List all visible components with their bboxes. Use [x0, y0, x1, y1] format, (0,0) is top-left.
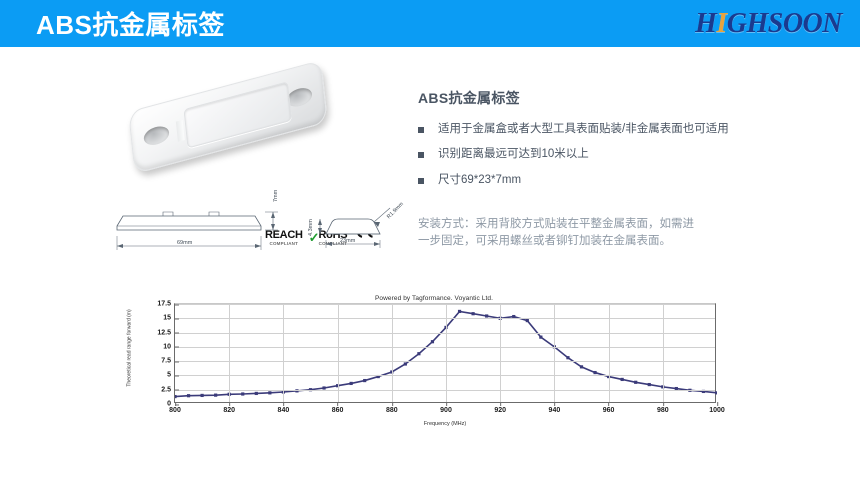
list-item: 尺寸69*23*7mm — [418, 173, 848, 187]
tag-center-panel — [183, 81, 291, 148]
drawing-end-view: 23mm 4.3mm R1.9mm — [300, 200, 410, 262]
chart-x-tick: 840 — [278, 402, 290, 414]
product-info: ABS抗金属标签 适用于金属盒或者大型工具表面贴装/非金属表面也可适用 识别距离… — [418, 88, 848, 198]
chart-y-tick: 10 — [163, 343, 175, 350]
chart-y-tick: 7.5 — [161, 358, 175, 365]
info-title: ABS抗金属标签 — [418, 88, 848, 108]
chart-y-tick: 2.5 — [161, 386, 175, 393]
page-title: ABS抗金属标签 — [36, 5, 225, 42]
header-underline — [0, 47, 860, 51]
product-image-area: REACH COMPLIANT ✓ RoHS COMPLIANT — [0, 52, 410, 272]
chart-y-tick: 15 — [163, 315, 175, 322]
chart-gridline-v — [663, 304, 664, 402]
chart-x-tick: 820 — [223, 402, 235, 414]
chart-x-tick: 860 — [332, 402, 344, 414]
feature-text: 适用于金属盒或者大型工具表面贴装/非金属表面也可适用 — [438, 122, 729, 136]
installation-note: 安装方式：采用背胶方式贴装在平整金属表面，如需进 一步固定，可采用螺丝或者铆钉加… — [418, 216, 748, 251]
chart-gridline-h — [175, 318, 715, 319]
brand-logo: HIGHSOON — [695, 8, 842, 40]
list-item: 适用于金属盒或者大型工具表面贴装/非金属表面也可适用 — [418, 122, 848, 136]
end-view-height-label: 4.3mm — [308, 219, 314, 236]
brand-logo-prefix: H — [695, 8, 716, 39]
chart-x-tick: 960 — [603, 402, 615, 414]
chart-gridline-v — [283, 304, 284, 402]
chart-gridline-v — [446, 304, 447, 402]
end-view-width-label: 23mm — [340, 238, 355, 244]
tag-body-shape — [128, 60, 328, 174]
drawing-side-view: 69mm 7mm — [105, 200, 285, 262]
tag-notch-left — [176, 120, 185, 142]
brand-logo-highlight: I — [716, 8, 726, 39]
chart-y-tick: 17.5 — [157, 301, 175, 308]
chart-gridline-v — [500, 304, 501, 402]
screw-hole-left-icon — [143, 124, 170, 148]
chart-gridline-v — [609, 304, 610, 402]
feature-text: 识别距离最远可达到10米以上 — [438, 147, 589, 161]
chart-x-tick: 920 — [494, 402, 506, 414]
chart-gridline-h — [175, 333, 715, 334]
chart-plot-area: 02.557.51012.51517.580082084086088090092… — [174, 303, 716, 403]
chart-y-tick: 12.5 — [157, 329, 175, 336]
chart-x-tick: 940 — [549, 402, 561, 414]
chart-x-tick: 880 — [386, 402, 398, 414]
chart-gridline-v — [338, 304, 339, 402]
side-view-length-label: 69mm — [177, 240, 192, 246]
brand-logo-suffix: GHSOON — [727, 8, 842, 39]
chart-x-tick: 800 — [169, 402, 181, 414]
chart-y-tick: 5 — [167, 372, 175, 379]
chart-gridline-h — [175, 390, 715, 391]
chart-gridline-h — [175, 361, 715, 362]
chart-gridline-v — [392, 304, 393, 402]
chart-gridline-h — [175, 304, 715, 305]
chart-x-tick: 980 — [657, 402, 669, 414]
drawing-side-view-svg — [105, 200, 285, 262]
square-bullet-icon — [418, 127, 424, 133]
chart-x-axis-label: Frequency (MHz) — [174, 421, 716, 427]
chart-y-axis-label: Theoretical read range forward (m) — [124, 298, 136, 398]
installation-note-line1: 安装方式：采用背胶方式贴装在平整金属表面，如需进 — [418, 216, 748, 233]
side-view-height-label: 7mm — [273, 190, 279, 202]
chart-gridline-h — [175, 375, 715, 376]
square-bullet-icon — [418, 178, 424, 184]
chart-x-tick: 1000 — [709, 402, 725, 414]
installation-note-line2: 一步固定，可采用螺丝或者铆钉加装在金属表面。 — [418, 233, 748, 250]
chart-x-tick: 900 — [440, 402, 452, 414]
chart-gridline-h — [175, 347, 715, 348]
product-photo — [108, 60, 358, 180]
chart-title: Powered by Tagformance. Voyantic Ltd. — [128, 295, 740, 302]
chart-gridline-v — [554, 304, 555, 402]
chart-gridline-v — [229, 304, 230, 402]
list-item: 识别距离最远可达到10米以上 — [418, 147, 848, 161]
feature-text: 尺寸69*23*7mm — [438, 173, 521, 187]
read-range-chart: Powered by Tagformance. Voyantic Ltd. Th… — [128, 293, 740, 448]
page-header: ABS抗金属标签 HIGHSOON — [0, 0, 860, 47]
feature-list: 适用于金属盒或者大型工具表面贴装/非金属表面也可适用 识别距离最远可达到10米以… — [418, 122, 848, 187]
square-bullet-icon — [418, 152, 424, 158]
